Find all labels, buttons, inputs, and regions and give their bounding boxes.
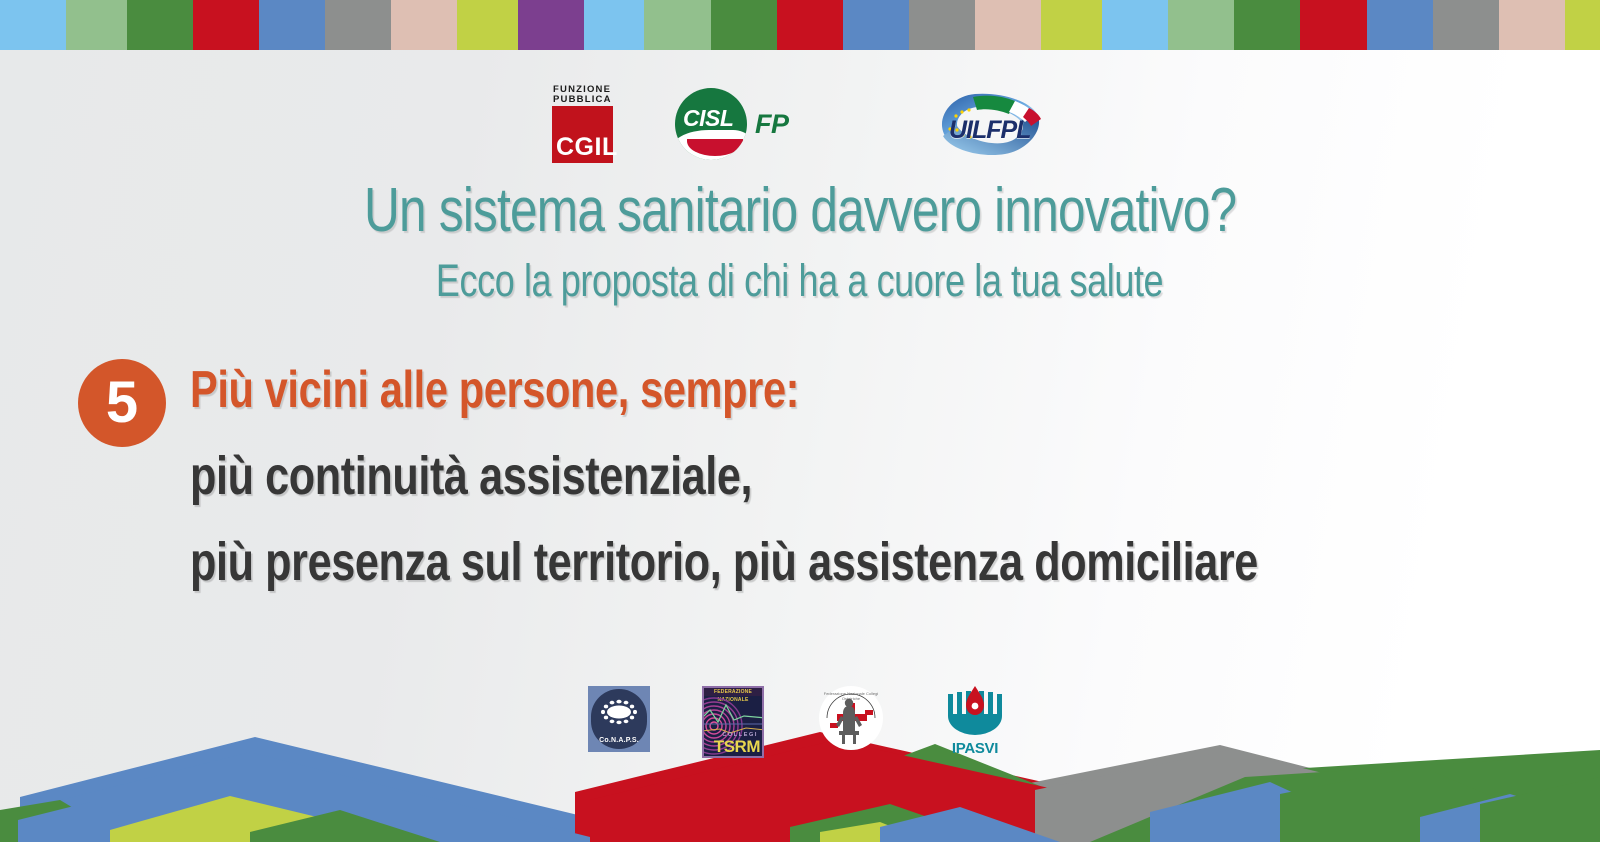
color-swatch-23 — [1499, 0, 1565, 50]
cisl-fp-suffix: FP — [755, 109, 789, 140]
color-swatch-19 — [1234, 0, 1300, 50]
cisl-green-disc: CISL — [675, 88, 747, 160]
color-swatch-12 — [777, 0, 843, 50]
color-swatch-7 — [457, 0, 517, 50]
color-swatch-8 — [518, 0, 584, 50]
point-headline: Più vicini alle persone, sempre: — [190, 360, 1590, 420]
conaps-ring-icon — [599, 699, 639, 725]
color-swatch-11 — [711, 0, 777, 50]
color-swatch-24 — [1565, 0, 1600, 50]
point-headline-text: Più vicini alle persone, sempre: — [190, 360, 799, 420]
title-block: Un sistema sanitario davvero innovativo?… — [0, 178, 1600, 308]
color-swatch-17 — [1102, 0, 1168, 50]
decorative-color-bar — [0, 0, 1600, 50]
color-swatch-10 — [644, 0, 710, 50]
point-text-block: Più vicini alle persone, sempre: più con… — [190, 360, 1590, 593]
color-swatch-21 — [1367, 0, 1433, 50]
ipasvi-crest-logo: Federazione Nazionale Collegi Ostetriche — [816, 686, 886, 752]
page-subtitle-text: Ecco la proposta di chi ha a cuore la tu… — [436, 254, 1163, 308]
page-subtitle: Ecco la proposta di chi ha a cuore la tu… — [0, 254, 1600, 308]
ipasvi-wordmark: IPASVI — [938, 741, 1012, 756]
color-swatch-13 — [843, 0, 909, 50]
color-swatch-9 — [584, 0, 644, 50]
color-swatch-6 — [391, 0, 457, 50]
cgil-funzione-pubblica-label: FUNZIONE PUBBLICA — [553, 85, 612, 105]
top-logo-row: FUNZIONE PUBBLICA CGIL CISL FP — [0, 78, 1600, 170]
ipasvi-hands-flame-icon — [938, 686, 1012, 741]
color-swatch-16 — [1041, 0, 1101, 50]
cgil-logo: FUNZIONE PUBBLICA CGIL — [545, 85, 615, 163]
cisl-fp-logo: CISL FP — [675, 88, 865, 160]
point-body-line-1-text: più continuità assistenziale, — [190, 445, 752, 507]
tsrm-logo: FEDERAZIONE NAZIONALE COLLEGI TSRM — [702, 686, 764, 758]
color-swatch-22 — [1433, 0, 1499, 50]
point-number-badge: 5 — [78, 359, 166, 447]
color-swatch-0 — [0, 0, 66, 50]
color-swatch-14 — [909, 0, 975, 50]
conaps-logo: Co.N.A.P.S. — [588, 686, 650, 752]
color-swatch-20 — [1300, 0, 1366, 50]
conaps-label: Co.N.A.P.S. — [588, 737, 650, 744]
color-swatch-2 — [127, 0, 193, 50]
cisl-wordmark: CISL — [683, 105, 733, 132]
tsrm-wordmark: TSRM — [714, 738, 760, 755]
ipasvi-logo: IPASVI — [938, 686, 1012, 756]
poster-canvas: FUNZIONE PUBBLICA CGIL CISL FP — [0, 0, 1600, 842]
color-swatch-5 — [325, 0, 391, 50]
color-swatch-3 — [193, 0, 259, 50]
uilfpl-logo: UILFPL — [925, 88, 1055, 160]
tsrm-top-label: FEDERAZIONE NAZIONALE — [704, 688, 762, 696]
point-number-value: 5 — [78, 359, 166, 447]
page-title-text: Un sistema sanitario davvero innovativo? — [364, 178, 1236, 244]
bottom-logo-row: Co.N.A.P.S. FEDERAZIONE NAZIONALE COLLEG… — [0, 686, 1600, 756]
crest-label: Federazione Nazionale Collegi Ostetriche — [816, 691, 886, 701]
point-body-line-1: più continuità assistenziale, — [190, 445, 1590, 507]
color-swatch-4 — [259, 0, 325, 50]
color-swatch-1 — [66, 0, 126, 50]
point-body-line-2-text: più presenza sul territorio, più assiste… — [190, 531, 1258, 593]
page-title: Un sistema sanitario davvero innovativo? — [0, 178, 1600, 244]
color-swatch-15 — [975, 0, 1041, 50]
uilfpl-wordmark: UILFPL — [949, 116, 1031, 145]
point-body-line-2: più presenza sul territorio, più assiste… — [190, 531, 1590, 593]
color-swatch-18 — [1168, 0, 1234, 50]
cgil-wordmark: CGIL — [556, 135, 618, 160]
